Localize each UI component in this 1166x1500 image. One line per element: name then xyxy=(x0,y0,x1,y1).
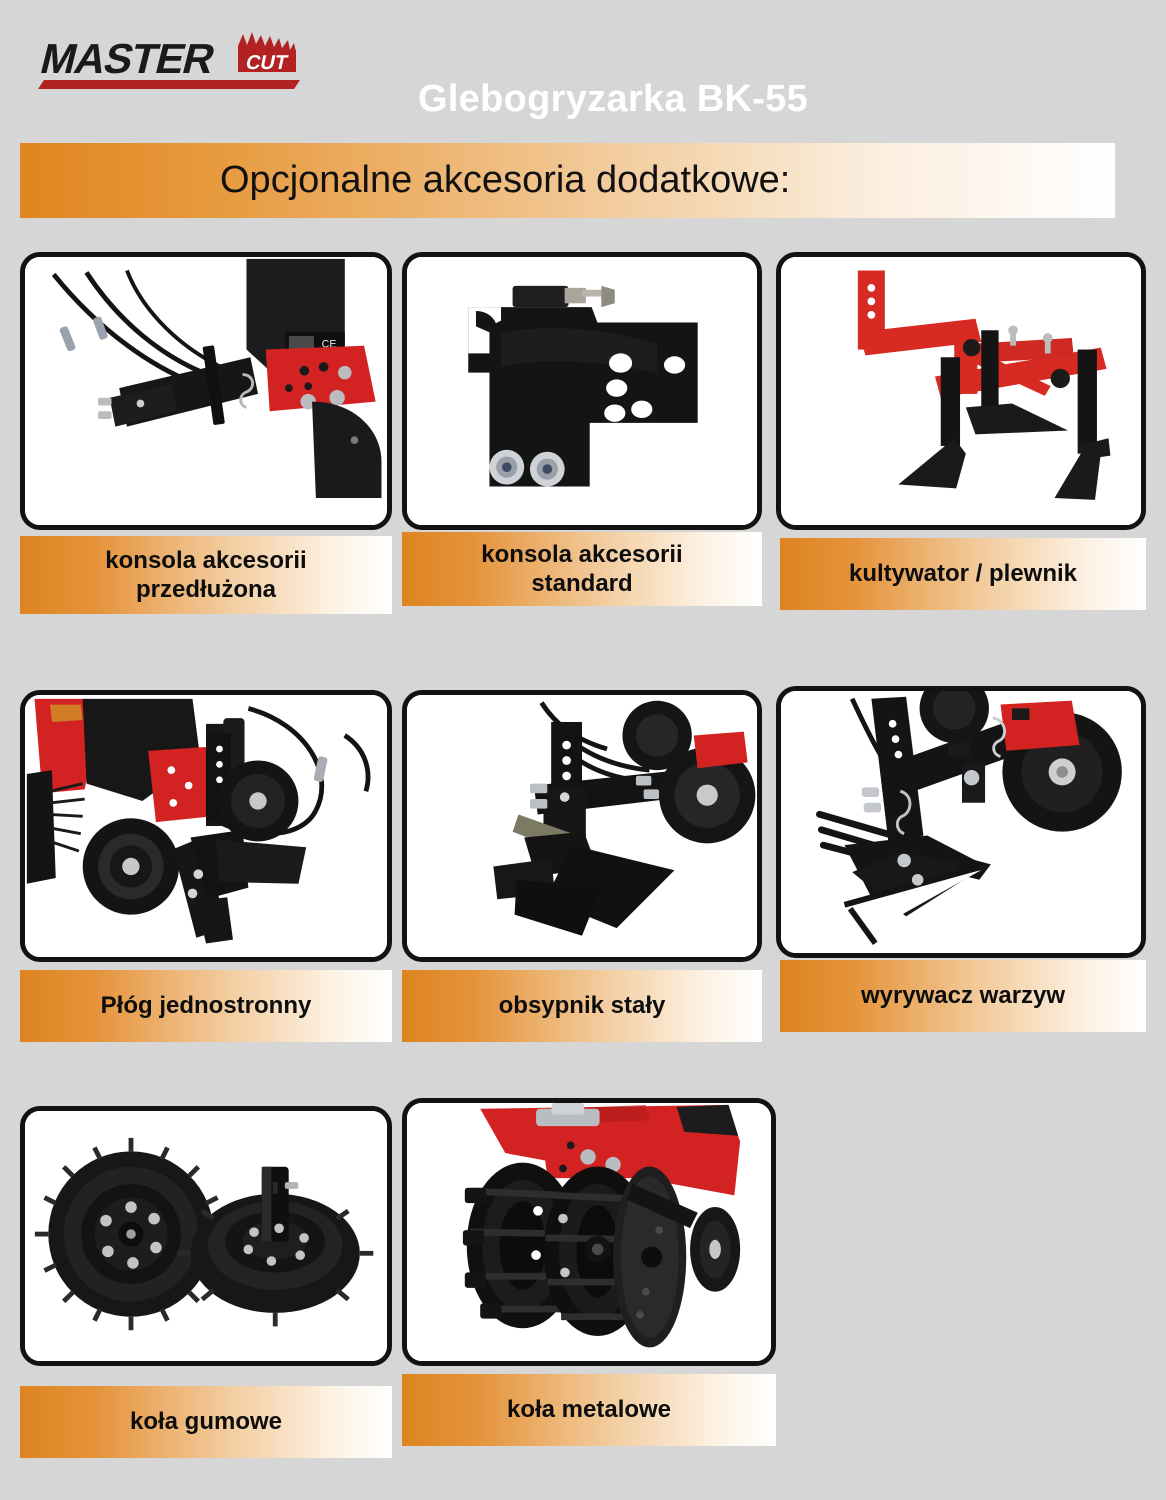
product-row-3: koła gumowe xyxy=(0,1068,1166,1473)
product-caption-kultywator: kultywator / plewnik xyxy=(780,538,1146,610)
product-card-kola-metalowe[interactable] xyxy=(402,1098,776,1366)
product-caption-plug: Płóg jednostronny xyxy=(20,970,392,1042)
product-photo-konsola-standard xyxy=(407,257,757,525)
caption-text: konsola akcesorii przedłużona xyxy=(85,546,326,605)
product-card-wyrywacz[interactable] xyxy=(776,686,1146,958)
caption-text: konsola akcesorii standard xyxy=(461,540,702,599)
caption-text: koła metalowe xyxy=(497,1395,681,1424)
product-row-2: Płóg jednostronny xyxy=(0,658,1166,1068)
product-card-kola-gumowe[interactable] xyxy=(20,1106,392,1366)
product-card-plug[interactable] xyxy=(20,690,392,962)
product-card-kultywator[interactable] xyxy=(776,252,1146,530)
product-row-1: CE xyxy=(0,248,1166,658)
product-photo-kultywator xyxy=(781,257,1141,525)
product-card-obsypnik[interactable] xyxy=(402,690,762,962)
caption-text: Płóg jednostronny xyxy=(91,991,322,1020)
product-caption-konsola-standard: konsola akcesorii standard xyxy=(402,532,762,606)
product-caption-obsypnik: obsypnik stały xyxy=(402,970,762,1042)
product-card-konsola-przedluzona[interactable]: CE xyxy=(20,252,392,530)
page-title: Glebogryzarka BK-55 xyxy=(0,78,1166,121)
caption-text: koła gumowe xyxy=(120,1407,292,1436)
subtitle-banner: Opcjonalne akcesoria dodatkowe: xyxy=(20,143,1115,218)
product-photo-kola-gumowe xyxy=(25,1111,387,1361)
svg-text:CUT: CUT xyxy=(244,52,290,74)
product-photo-konsola-przedluzona: CE xyxy=(25,257,387,525)
svg-text:MASTER: MASTER xyxy=(36,36,219,83)
product-photo-wyrywacz xyxy=(781,691,1141,953)
caption-text: obsypnik stały xyxy=(489,991,676,1020)
product-caption-konsola-przedluzona: konsola akcesorii przedłużona xyxy=(20,536,392,614)
product-photo-kola-metalowe xyxy=(407,1103,771,1361)
caption-text: wyrywacz warzyw xyxy=(851,981,1075,1010)
product-grid: CE xyxy=(0,248,1166,1473)
product-caption-kola-metalowe: koła metalowe xyxy=(402,1374,776,1446)
product-photo-plug xyxy=(25,695,387,957)
product-caption-kola-gumowe: koła gumowe xyxy=(20,1386,392,1458)
product-photo-obsypnik xyxy=(407,695,757,957)
product-caption-wyrywacz: wyrywacz warzyw xyxy=(780,960,1146,1032)
page-header: MASTER CUT Glebogryzarka BK-55 xyxy=(0,0,1166,140)
subtitle-text: Opcjonalne akcesoria dodatkowe: xyxy=(20,159,790,202)
caption-text: kultywator / plewnik xyxy=(839,559,1087,588)
product-card-konsola-standard[interactable] xyxy=(402,252,762,530)
